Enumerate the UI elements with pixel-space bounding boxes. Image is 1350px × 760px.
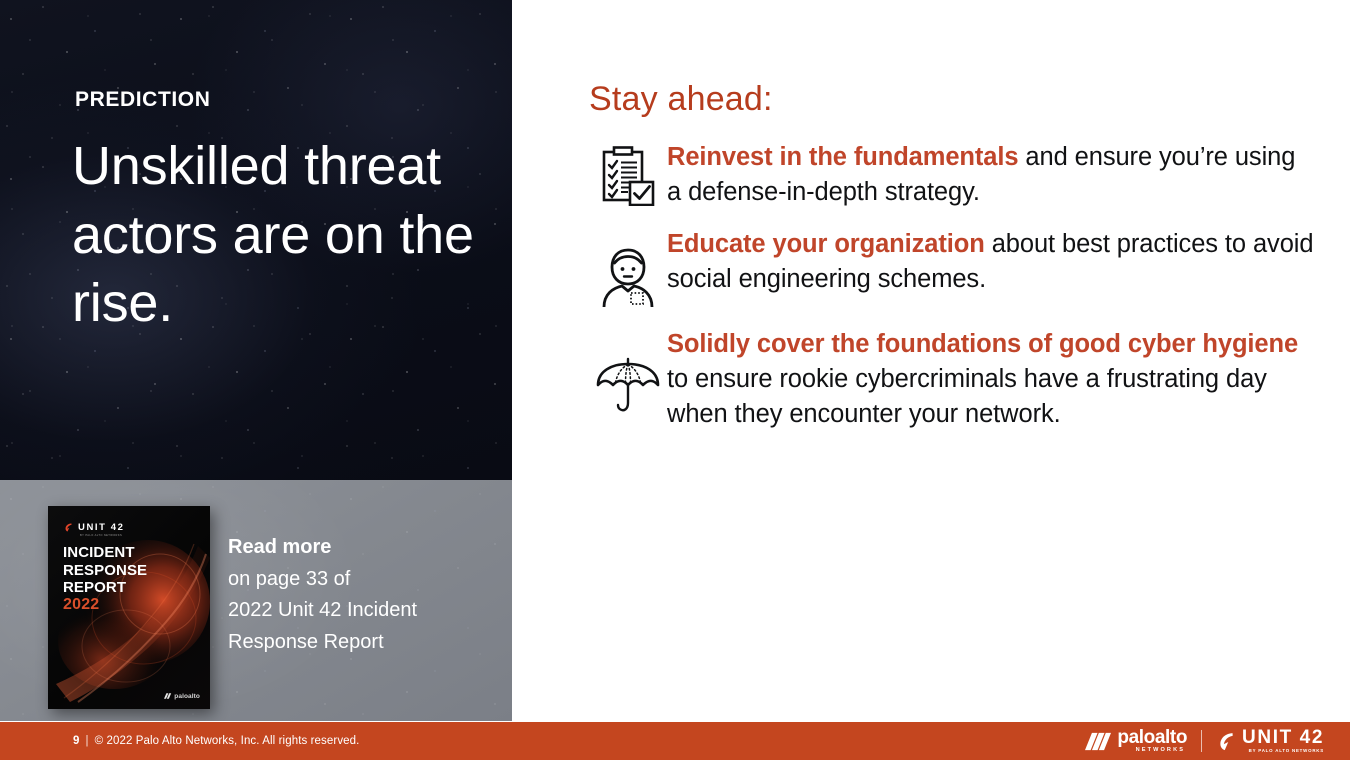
footer-bar: 9 | © 2022 Palo Alto Networks, Inc. All … xyxy=(0,722,1350,760)
unit42-wordmark: UNIT 42 xyxy=(1242,728,1324,747)
copyright-text: © 2022 Palo Alto Networks, Inc. All righ… xyxy=(95,735,360,747)
read-more-line-1: on page 33 of xyxy=(228,568,350,590)
list-item-rest: to ensure rookie cybercriminals have a f… xyxy=(667,365,1267,428)
left-dark-panel: PREDICTION Unskilled threat actors are o… xyxy=(0,0,512,480)
paloalto-bars-icon xyxy=(1085,731,1111,752)
cover-year: 2022 xyxy=(63,596,99,614)
paloalto-bars-icon xyxy=(164,692,172,700)
checklist-clipboard-icon xyxy=(589,140,667,206)
read-more-line-3: Response Report xyxy=(228,631,384,653)
paloalto-wordmark: paloalto xyxy=(1117,728,1187,747)
list-item-text: Educate your organization about best pra… xyxy=(667,227,1314,296)
list-item-text: Solidly cover the foundations of good cy… xyxy=(667,327,1314,431)
list-item: Reinvest in the fundamentals and ensure … xyxy=(589,140,1314,209)
report-callout-band: UNIT 42 BY PALO ALTO NETWORKS INCIDENT R… xyxy=(0,480,512,721)
unit42-logo: UNIT 42 BY PALO ALTO NETWORKS xyxy=(1216,728,1324,753)
footer-separator: | xyxy=(86,735,89,747)
list-item: Solidly cover the foundations of good cy… xyxy=(589,327,1314,431)
page-title: Unskilled threat actors are on the rise. xyxy=(72,132,492,338)
cover-title: INCIDENT RESPONSE REPORT xyxy=(63,544,210,597)
unit42-swirl-mark-icon xyxy=(1216,731,1237,752)
paloalto-networks-subtext: NETWORKS xyxy=(1136,748,1185,754)
cover-unit42-wordmark: UNIT 42 xyxy=(78,522,125,533)
unit42-tagline: BY PALO ALTO NETWORKS xyxy=(1249,749,1324,753)
cover-paloalto-logo: paloalto xyxy=(164,692,200,700)
cover-unit42-tagline: BY PALO ALTO NETWORKS xyxy=(80,534,122,537)
logo-divider xyxy=(1201,730,1202,752)
read-more-line-2: 2022 Unit 42 Incident xyxy=(228,599,417,621)
list-item-lead: Educate your organization xyxy=(667,230,985,258)
footer-logos: paloalto NETWORKS UNIT 42 BY PALO ALTO N… xyxy=(1085,722,1324,760)
umbrella-icon xyxy=(589,327,667,415)
list-item-lead: Solidly cover the foundations of good cy… xyxy=(667,330,1298,358)
cover-paloalto-wordmark: paloalto xyxy=(174,693,200,700)
read-more-callout: Read more on page 33 of 2022 Unit 42 Inc… xyxy=(228,532,500,658)
list-item: Educate your organization about best pra… xyxy=(589,227,1314,309)
footer-copyright-block: 9 | © 2022 Palo Alto Networks, Inc. All … xyxy=(73,722,359,760)
unit42-swirl-mark-icon xyxy=(63,522,74,533)
prediction-eyebrow-label: PREDICTION xyxy=(75,88,211,112)
person-icon xyxy=(589,227,667,309)
slide-canvas: PREDICTION Unskilled threat actors are o… xyxy=(0,0,1350,760)
paloalto-networks-logo: paloalto NETWORKS xyxy=(1085,728,1187,754)
read-more-bold-label: Read more xyxy=(228,536,331,558)
report-cover-thumbnail[interactable]: UNIT 42 BY PALO ALTO NETWORKS INCIDENT R… xyxy=(48,506,210,709)
stay-ahead-heading: Stay ahead: xyxy=(589,80,773,119)
cover-unit42-logo: UNIT 42 BY PALO ALTO NETWORKS xyxy=(63,522,125,533)
list-item-lead: Reinvest in the fundamentals xyxy=(667,143,1018,171)
page-number: 9 xyxy=(73,735,80,747)
list-item-text: Reinvest in the fundamentals and ensure … xyxy=(667,140,1314,209)
recommendations-list: Reinvest in the fundamentals and ensure … xyxy=(589,140,1314,449)
